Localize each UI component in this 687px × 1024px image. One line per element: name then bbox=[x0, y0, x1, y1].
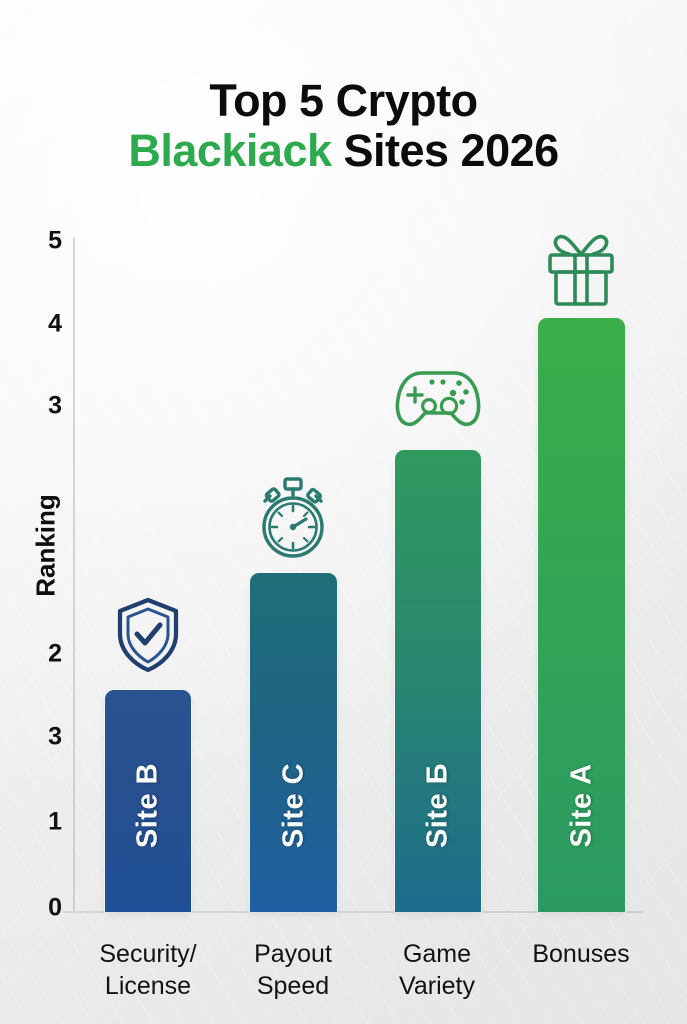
bar-label: Site C bbox=[277, 763, 310, 848]
title-rest: Sites 2026 bbox=[332, 125, 559, 176]
chart-title: Top 5 Crypto Blackiack Sites 2026 bbox=[0, 76, 687, 177]
x-tick-label-bonuses: Bonuses bbox=[532, 938, 629, 970]
y-tick-label: 0 bbox=[16, 894, 62, 923]
y-tick-label: 1 bbox=[16, 808, 62, 837]
y-tick-label: 3 bbox=[16, 392, 62, 421]
y-tick-label: 4 bbox=[16, 310, 62, 339]
title-line-2: Blackiack Sites 2026 bbox=[0, 126, 687, 176]
bar-payout-speed[interactable]: Site C bbox=[250, 573, 337, 912]
shield-check-icon bbox=[114, 596, 182, 679]
x-tick-label-security-license: Security/ License bbox=[99, 938, 196, 1002]
bar-label: Site A bbox=[565, 763, 598, 847]
x-tick-label-game-variety: Game Variety bbox=[399, 938, 475, 1002]
y-tick-label: 2 bbox=[16, 640, 62, 669]
x-tick-label-payout-speed: Payout Speed bbox=[254, 938, 332, 1002]
title-accent-word: Blackiack bbox=[128, 125, 331, 176]
y-tick-label: 5 bbox=[16, 227, 62, 256]
y-axis-line bbox=[73, 238, 75, 913]
title-line-1: Top 5 Crypto bbox=[0, 76, 687, 126]
y-axis-title: Ranking bbox=[31, 486, 62, 606]
stopwatch-icon bbox=[254, 476, 332, 565]
bar-game-variety[interactable]: Site Б bbox=[395, 450, 481, 912]
bar-label: Site B bbox=[132, 763, 165, 848]
gamepad-icon bbox=[392, 361, 484, 436]
y-tick-label: 3 bbox=[16, 723, 62, 752]
bar-bonuses[interactable]: Site A bbox=[538, 318, 625, 912]
bar-security-license[interactable]: Site B bbox=[105, 690, 191, 912]
bar-label: Site Б bbox=[422, 763, 455, 848]
gift-icon bbox=[541, 230, 621, 315]
infographic-canvas: Top 5 Crypto Blackiack Sites 2026 5 4 3 … bbox=[0, 0, 687, 1024]
